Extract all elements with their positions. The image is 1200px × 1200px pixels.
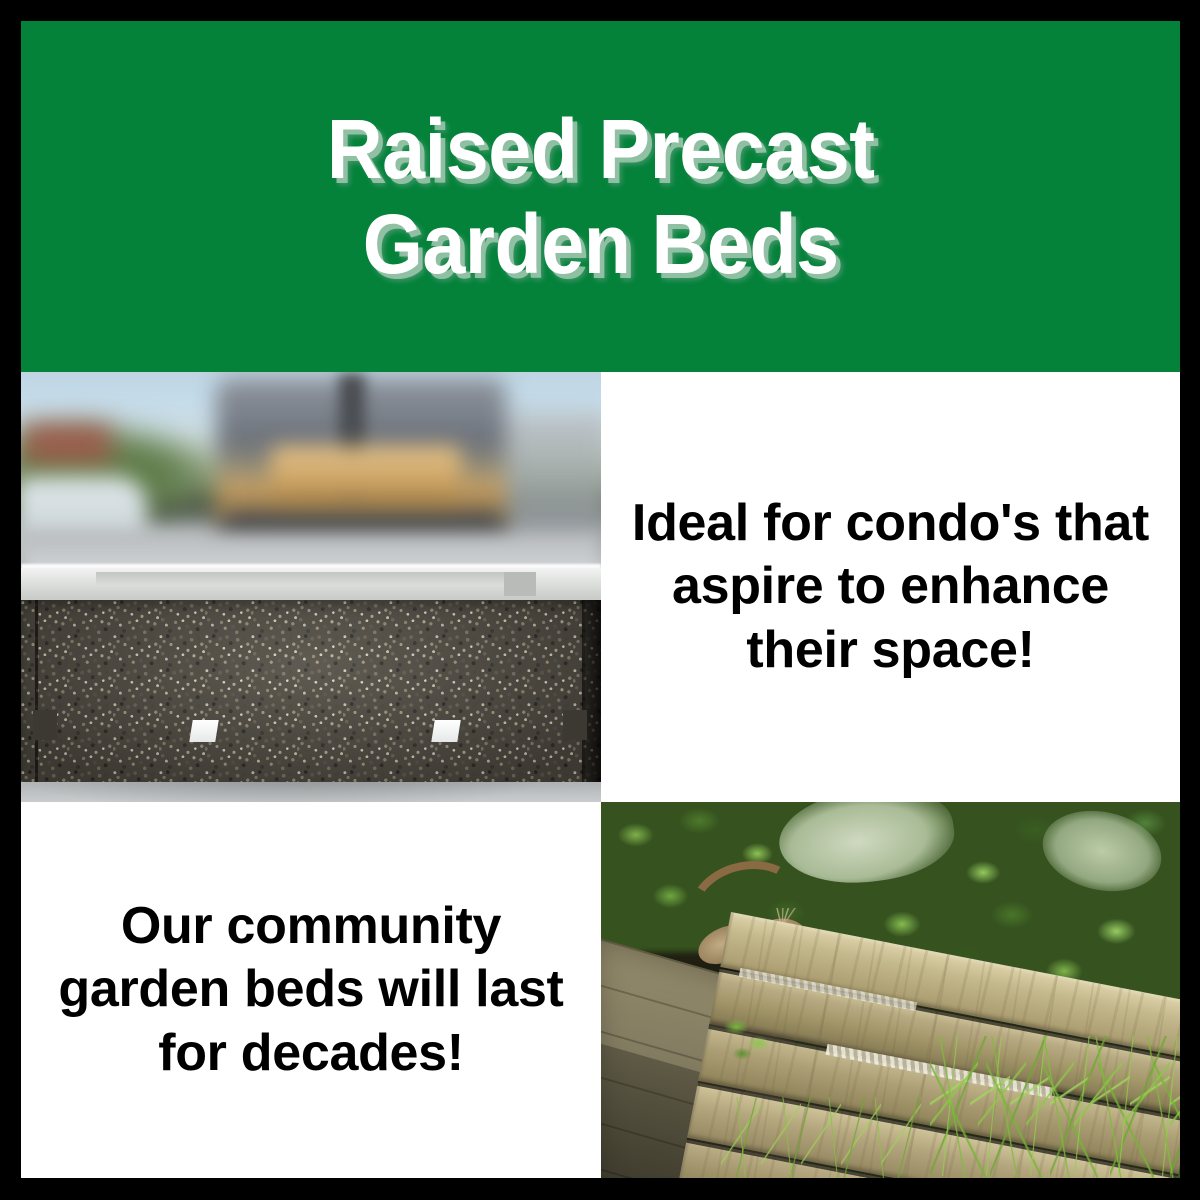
planter-inner-cavity — [96, 572, 509, 585]
planter-foot-right — [563, 710, 587, 740]
blurred-machinery-body — [271, 446, 461, 508]
exposed-aggregate-face — [21, 600, 601, 782]
green-shoot — [719, 1010, 777, 1066]
planter-shim-left — [189, 720, 218, 742]
poster-body-grid: Ideal for condo's that aspire to enhance… — [21, 372, 1180, 1178]
wooden-raised-bed-photo — [601, 802, 1180, 1178]
grass-tufts-right — [930, 1036, 1180, 1178]
planter-rim-notch — [504, 572, 536, 596]
poster-header: Raised Precast Garden Beds — [21, 21, 1180, 372]
planter-foot-left — [33, 710, 57, 740]
planter-corner-seam-left — [35, 600, 38, 782]
grass-tufts-left — [721, 1097, 921, 1178]
durability-message-panel: Our community garden beds will last for … — [21, 802, 601, 1178]
condo-message-text: Ideal for condo's that aspire to enhance… — [619, 492, 1162, 682]
poster-root: Raised Precast Garden Beds — [0, 0, 1200, 1200]
durability-message-text: Our community garden beds will last for … — [39, 895, 583, 1085]
poster-title-line-1: Raised Precast — [327, 102, 875, 196]
planter-right-shadow — [585, 600, 601, 782]
blurred-red-roof — [23, 424, 111, 464]
planter-shim-right — [431, 720, 460, 742]
poster-title-line-2: Garden Beds — [363, 197, 839, 291]
precast-planter-photo — [21, 372, 601, 802]
condo-message-panel: Ideal for condo's that aspire to enhance… — [601, 372, 1180, 802]
poster-canvas: Raised Precast Garden Beds — [21, 21, 1180, 1178]
